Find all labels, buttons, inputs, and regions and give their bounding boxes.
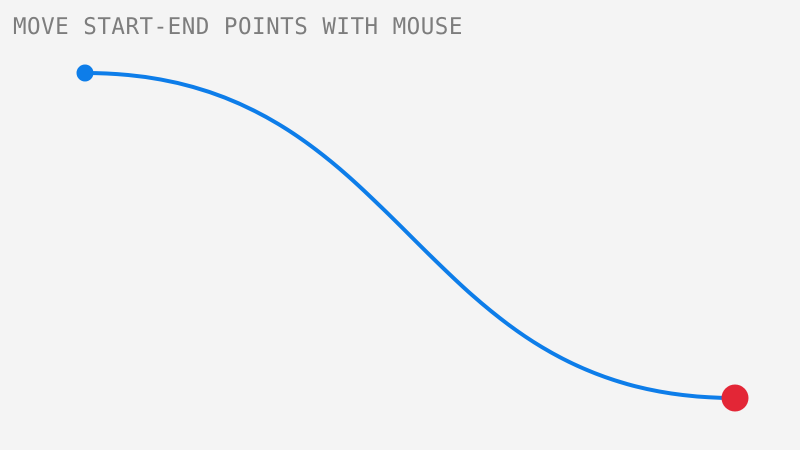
start-point-handle[interactable] (77, 65, 94, 82)
curve-stage (0, 0, 800, 450)
bezier-canvas[interactable]: MOVE START-END POINTS WITH MOUSE (0, 0, 800, 450)
end-point-handle[interactable] (722, 385, 749, 412)
bezier-curve (85, 73, 735, 398)
